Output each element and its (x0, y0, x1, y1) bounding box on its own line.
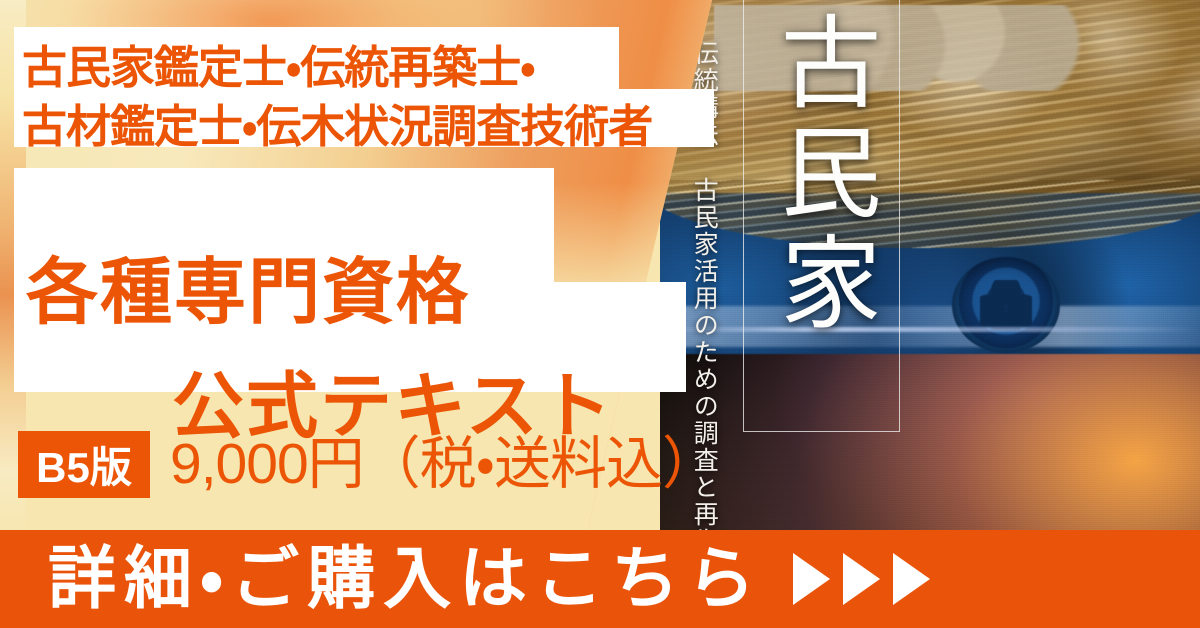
triangle-right-icon (843, 553, 880, 605)
cta-bar[interactable]: 詳細・ご購入はこちら (0, 530, 1200, 628)
cta-label: 詳細・ご購入はこちら (48, 545, 763, 613)
qualifications-line-1: 古民家鑑定士・伝統再築士・ (22, 45, 535, 90)
triangle-right-icon (893, 553, 930, 605)
qualifications-line-2: 古材鑑定士・伝木状況調査技術者 (22, 104, 652, 149)
price-text: 9,000円（税・送料込） (170, 432, 718, 496)
promo-banner: 古民家 伝統構法 古民家活用のための調査と再生の 古民家鑑定士・伝統再築士・ 古… (0, 0, 1200, 628)
cta-arrows (793, 553, 930, 605)
triangle-right-icon (793, 553, 830, 605)
photo-grain-overlay (660, 0, 1200, 536)
book-cover-photo: 古民家 伝統構法 古民家活用のための調査と再生の (660, 0, 1200, 536)
size-badge: B5版 (18, 431, 150, 498)
cover-title: 古民家 (754, 10, 886, 340)
headline-line-1: 各種専門資格 (26, 257, 470, 329)
